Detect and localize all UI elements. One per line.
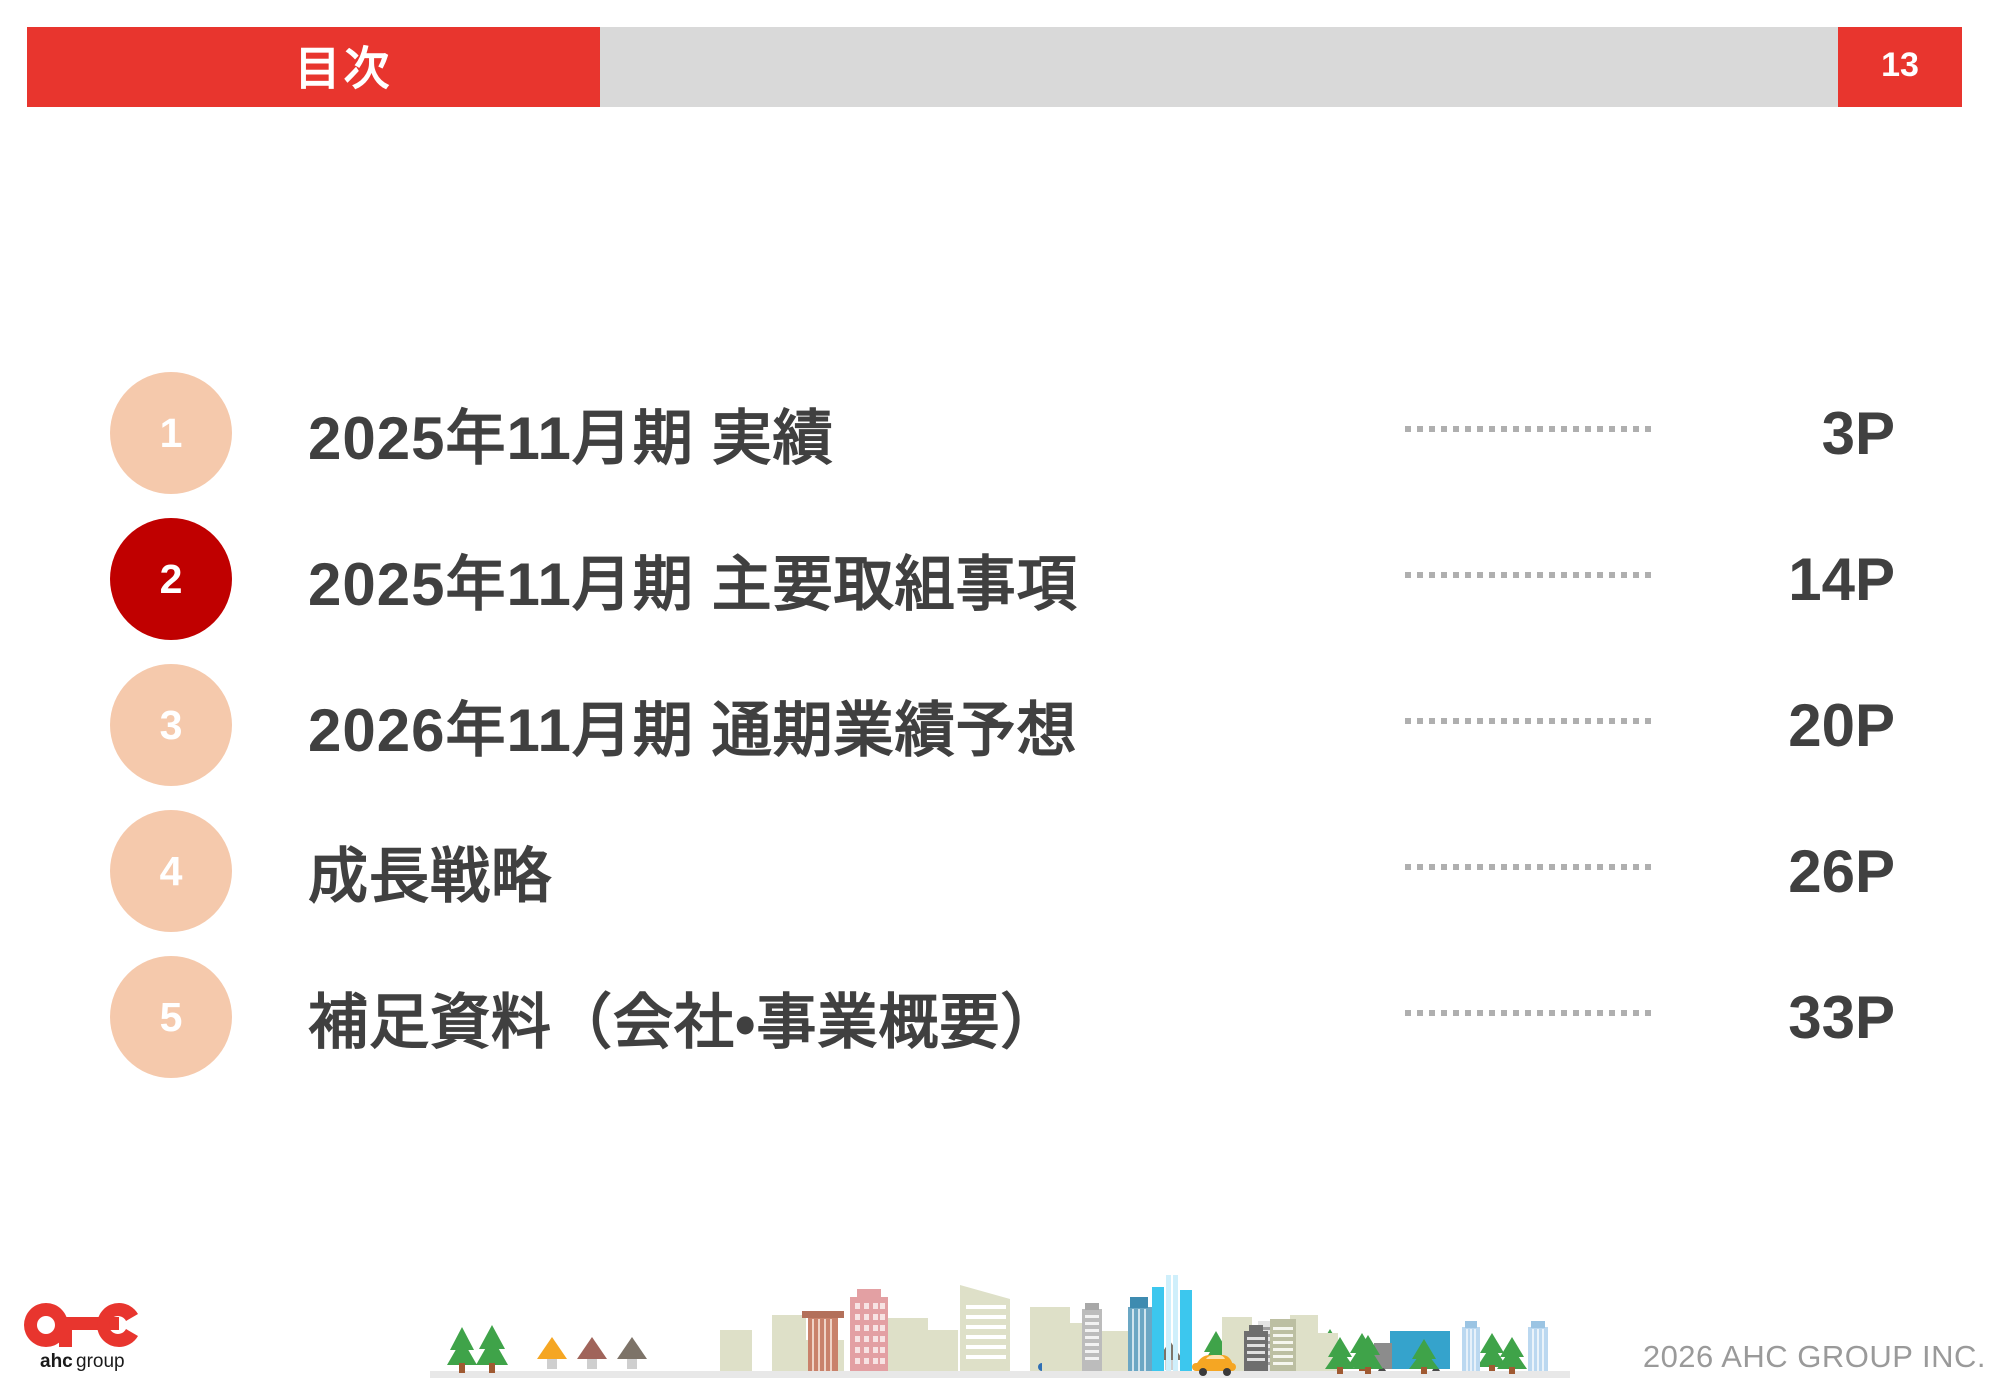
toc-item-label-1[interactable]: 2025年11月期 実績: [308, 372, 834, 494]
toc-page-number-3: 20P: [1700, 664, 1895, 786]
toc-row[interactable]: 4 成長戦略 26P: [0, 798, 2000, 944]
toc-number-badge-5: 5: [110, 956, 232, 1078]
copyright-text: 2026 AHC GROUP INC.: [1643, 1339, 1986, 1375]
toc-row[interactable]: 1 2025年11月期 実績 3P: [0, 360, 2000, 506]
toc-item-label-5[interactable]: 補足資料（会社・事業概要）: [308, 956, 1061, 1078]
cityscape-illustration-right: [1000, 1275, 1560, 1385]
toc-page-number-5: 33P: [1700, 956, 1895, 1078]
logo-text-group: group: [76, 1351, 125, 1372]
toc-leader-dots-3: [1405, 718, 1653, 724]
toc-item-label-2[interactable]: 2025年11月期 主要取組事項: [308, 518, 1078, 640]
toc-number-badge-1: 1: [110, 372, 232, 494]
slide-number: 13: [1838, 46, 1962, 85]
toc-leader-dots-1: [1405, 426, 1653, 432]
table-of-contents: 1 2025年11月期 実績 3P 2 2025年11月期 主要取組事項 14P…: [0, 360, 2000, 1090]
toc-item-label-4[interactable]: 成長戦略: [308, 810, 552, 932]
header-page-badge: 13: [1838, 27, 1962, 107]
toc-number-badge-4: 4: [110, 810, 232, 932]
toc-row[interactable]: 3 2026年11月期 通期業績予想 20P: [0, 652, 2000, 798]
toc-leader-dots-5: [1405, 1010, 1653, 1016]
header-gray-bar: [600, 27, 1838, 107]
toc-leader-dots-2: [1405, 572, 1653, 578]
page-title: 目次: [27, 33, 600, 99]
toc-row[interactable]: 5 補足資料（会社・事業概要） 33P: [0, 944, 2000, 1090]
slide-header: 目次 13: [27, 27, 1972, 107]
toc-page-number-4: 26P: [1700, 810, 1895, 932]
toc-leader-dots-4: [1405, 864, 1653, 870]
ahc-group-logo: ahc group: [18, 1299, 178, 1373]
header-title-block: 目次: [27, 27, 600, 107]
toc-page-number-1: 3P: [1700, 372, 1895, 494]
toc-item-label-3[interactable]: 2026年11月期 通期業績予想: [308, 664, 1078, 786]
toc-number-badge-2: 2: [110, 518, 232, 640]
logo-text-ahc: ahc: [40, 1351, 73, 1372]
ahc-logo-mark: [24, 1303, 138, 1347]
toc-page-number-2: 14P: [1700, 518, 1895, 640]
toc-number-badge-3: 3: [110, 664, 232, 786]
toc-row[interactable]: 2 2025年11月期 主要取組事項 14P: [0, 506, 2000, 652]
